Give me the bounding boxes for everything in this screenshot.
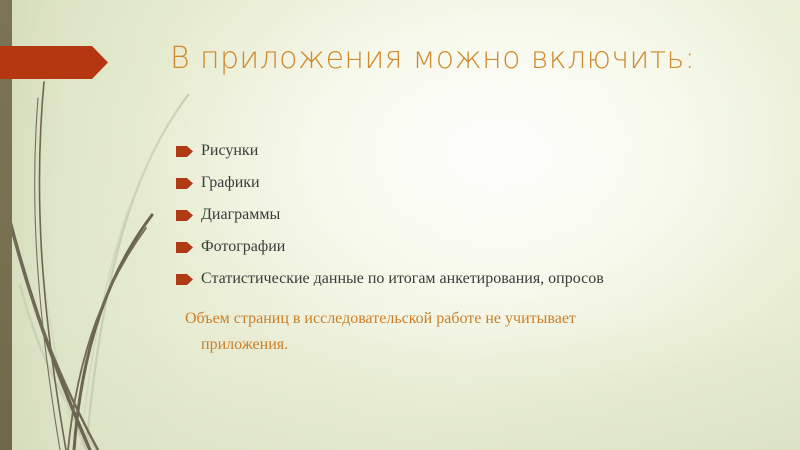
arrow-bullet-icon — [176, 274, 193, 285]
presentation-slide: В приложения можно включить: Рисунки Гра… — [0, 0, 800, 450]
slide-title: В приложения можно включить: — [170, 41, 770, 77]
list-item-label: Статистические данные по итогам анкетиро… — [201, 268, 772, 289]
orange-arrow-banner — [0, 46, 108, 79]
list-item: Фотографии — [176, 236, 772, 268]
slide-body: Рисунки Графики Диаграммы Фотографии Ста — [176, 140, 772, 358]
arrow-bullet-icon — [176, 178, 193, 189]
arrow-bullet-icon — [176, 242, 193, 253]
list-item: Диаграммы — [176, 204, 772, 236]
arrow-bullet-icon — [176, 210, 193, 221]
list-item: Статистические данные по итогам анкетиро… — [176, 268, 772, 300]
closing-note-line-1: Объем страниц в исследовательской работе… — [185, 310, 576, 327]
closing-note: Объем страниц в исследовательской работе… — [176, 306, 695, 358]
closing-note-line-2: приложения. — [185, 332, 695, 358]
list-item-label: Диаграммы — [201, 204, 772, 225]
list-item: Рисунки — [176, 140, 772, 172]
list-item-label: Графики — [201, 172, 772, 193]
list-item: Графики — [176, 172, 772, 204]
arrow-bullet-icon — [176, 146, 193, 157]
list-item-label: Рисунки — [201, 140, 772, 161]
list-item-label: Фотографии — [201, 236, 772, 257]
